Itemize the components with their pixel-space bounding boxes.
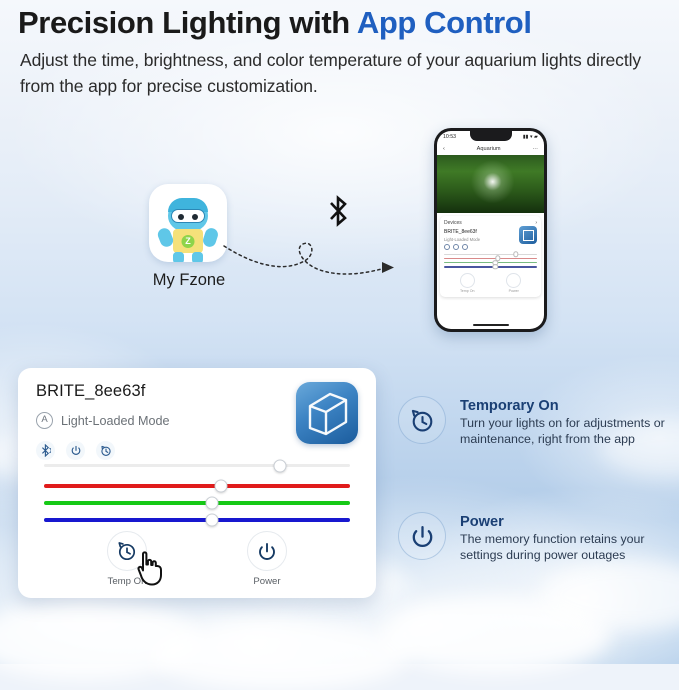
mascot-eye-right xyxy=(192,214,198,220)
brightness-slider-thumb[interactable] xyxy=(273,459,286,472)
phone-power-icon xyxy=(506,273,521,288)
page-header: Precision Lighting with App Control Adju… xyxy=(18,4,673,99)
green-slider[interactable] xyxy=(44,501,350,505)
phone-power-button[interactable]: Power xyxy=(506,273,521,294)
bluetooth-status-icon[interactable] xyxy=(36,441,55,460)
mascot-logo: Z xyxy=(182,235,195,248)
power-icon xyxy=(398,512,446,560)
phone-power-label: Power xyxy=(506,289,521,293)
phone-status-time: 10:53 xyxy=(443,134,456,140)
brightness-slider[interactable] xyxy=(44,464,350,467)
mascot-head xyxy=(168,198,208,231)
bluetooth-icon xyxy=(325,194,351,228)
feature-text-block: Power The memory function retains your s… xyxy=(460,512,678,564)
power-icon xyxy=(247,531,287,571)
phone-brightness-slider[interactable] xyxy=(444,254,537,256)
phone-button-row: Temp On Power xyxy=(444,273,537,294)
blue-slider[interactable] xyxy=(44,518,350,522)
app-icon-block[interactable]: Z My Fzone xyxy=(149,184,229,290)
power-button[interactable]: Power xyxy=(247,531,287,587)
phone-slider-group xyxy=(444,254,537,268)
feature-power: Power The memory function retains your s… xyxy=(398,512,678,564)
feature-temporary-on: Temporary On Turn your lights on for adj… xyxy=(398,396,678,448)
mascot-leg-left xyxy=(173,252,184,262)
phone-home-indicator xyxy=(473,324,509,326)
phone-device-mode: Light-Loaded Mode xyxy=(444,237,480,242)
phone-mockup: 10:53 ▮▮ ▾ ▰ ‹ Aquarium ··· Devices › BR… xyxy=(434,128,547,332)
phone-status-icon-row xyxy=(444,244,480,250)
phone-back-icon[interactable]: ‹ xyxy=(443,146,445,152)
fzone-mascot-icon[interactable]: Z xyxy=(149,184,227,262)
cloud xyxy=(150,620,410,690)
phone-product-icon xyxy=(519,226,537,244)
mascot-graphic: Z xyxy=(168,198,208,253)
phone-device-name: BRITE_8ee63f xyxy=(444,229,480,235)
pointing-hand-cursor xyxy=(130,545,174,589)
control-slider-group xyxy=(44,464,350,539)
mascot-torso: Z xyxy=(173,229,203,253)
phone-timer-status-icon xyxy=(462,244,468,250)
phone-notch xyxy=(470,131,512,141)
phone-nav-bar: ‹ Aquarium ··· xyxy=(437,143,544,155)
phone-more-icon[interactable]: ··· xyxy=(532,146,538,152)
phone-clock-rewind-icon xyxy=(460,273,475,288)
blue-cube-product-icon xyxy=(296,382,358,444)
dotted-curved-arrow-icon xyxy=(222,230,402,290)
control-card: BRITE_8ee63f A Light-Loaded Mode xyxy=(18,368,376,598)
phone-bluetooth-status-icon xyxy=(444,244,450,250)
phone-hero-image xyxy=(437,155,544,213)
page-title-accent: App Control xyxy=(357,5,532,40)
phone-status-icons: ▮▮ ▾ ▰ xyxy=(523,134,538,140)
temp-on-button[interactable]: Temp On xyxy=(107,531,147,587)
page-title-main: Precision Lighting with xyxy=(18,5,357,40)
mascot-arm-right xyxy=(201,226,219,248)
mascot-eye-left xyxy=(178,214,184,220)
feature-text-block: Temporary On Turn your lights on for adj… xyxy=(460,396,678,448)
phone-devices-more-icon[interactable]: › xyxy=(535,220,537,226)
phone-red-slider[interactable] xyxy=(444,258,537,260)
phone-temp-on-label: Temp On xyxy=(460,289,475,293)
mascot-leg-right xyxy=(192,252,203,262)
auto-mode-badge: A xyxy=(36,412,53,429)
control-button-row: Temp On Power xyxy=(18,531,376,587)
mascot-goggles xyxy=(171,209,205,223)
phone-green-slider[interactable] xyxy=(444,262,537,264)
page-title: Precision Lighting with App Control xyxy=(18,4,673,42)
control-mode-label: Light-Loaded Mode xyxy=(61,414,170,428)
app-name-label: My Fzone xyxy=(149,271,229,290)
phone-screen: 10:53 ▮▮ ▾ ▰ ‹ Aquarium ··· Devices › BR… xyxy=(437,131,544,329)
power-status-icon[interactable] xyxy=(66,441,85,460)
phone-nav-title: Aquarium xyxy=(477,146,501,152)
red-slider[interactable] xyxy=(44,484,350,488)
feature-title: Temporary On xyxy=(460,398,678,414)
timer-status-icon[interactable] xyxy=(96,441,115,460)
phone-power-status-icon xyxy=(453,244,459,250)
phone-temp-on-button[interactable]: Temp On xyxy=(460,273,475,294)
feature-title: Power xyxy=(460,514,678,530)
page-subtitle: Adjust the time, brightness, and color t… xyxy=(20,48,673,99)
phone-devices-card: Devices › BRITE_8ee63f Light-Loaded Mode xyxy=(440,216,541,297)
power-label: Power xyxy=(247,576,287,587)
clock-rewind-icon xyxy=(398,396,446,444)
phone-blue-slider[interactable] xyxy=(444,266,537,268)
blue-slider-thumb[interactable] xyxy=(206,514,219,527)
feature-description: Turn your lights on for adjustments or m… xyxy=(460,415,678,448)
green-slider-thumb[interactable] xyxy=(206,497,219,510)
feature-description: The memory function retains your setting… xyxy=(460,531,678,564)
red-slider-thumb[interactable] xyxy=(215,480,228,493)
